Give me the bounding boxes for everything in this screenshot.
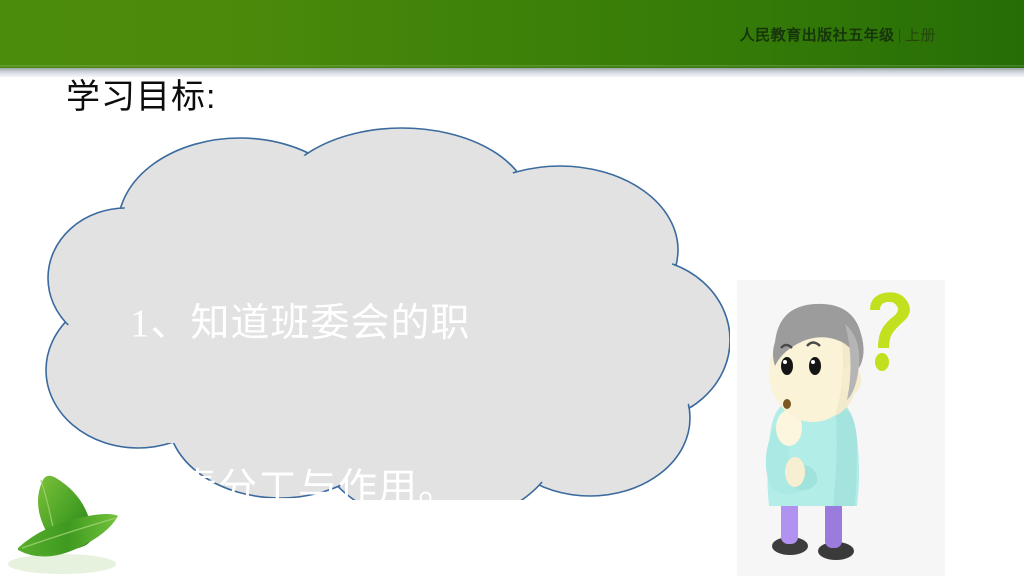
illustration-panel [737,280,945,576]
mouth [783,399,791,409]
objectives-text: 1、知道班委会的职 责分工与作用。 2、知道班委会委员 应该具备的要求。 [130,186,600,576]
left-eye-highlight [783,360,787,364]
thinking-person-illustration [737,280,945,576]
presentation-slide: 人民教育出版社五年级|上册 学习目标: [0,0,1024,576]
header-publisher-grade: 人民教育出版社五年级 [740,27,895,44]
coat-shadow [833,400,857,506]
page-title: 学习目标: [66,76,216,118]
right-eye [809,357,821,375]
green-leaves-icon [0,448,180,576]
header-volume: 上册 [905,27,936,44]
leaf-reflection [8,554,116,574]
objective-line-2: 责分工与作用。 [130,461,600,516]
leaves-decoration [0,448,180,576]
header-course-label: 人民教育出版社五年级|上册 [740,27,936,45]
question-mark-icon [870,292,910,371]
header-separator: | [898,27,902,44]
left-eye [781,357,793,375]
objective-line-1: 1、知道班委会的职 [130,296,600,351]
hand [785,457,805,487]
right-eye-highlight [811,360,815,364]
